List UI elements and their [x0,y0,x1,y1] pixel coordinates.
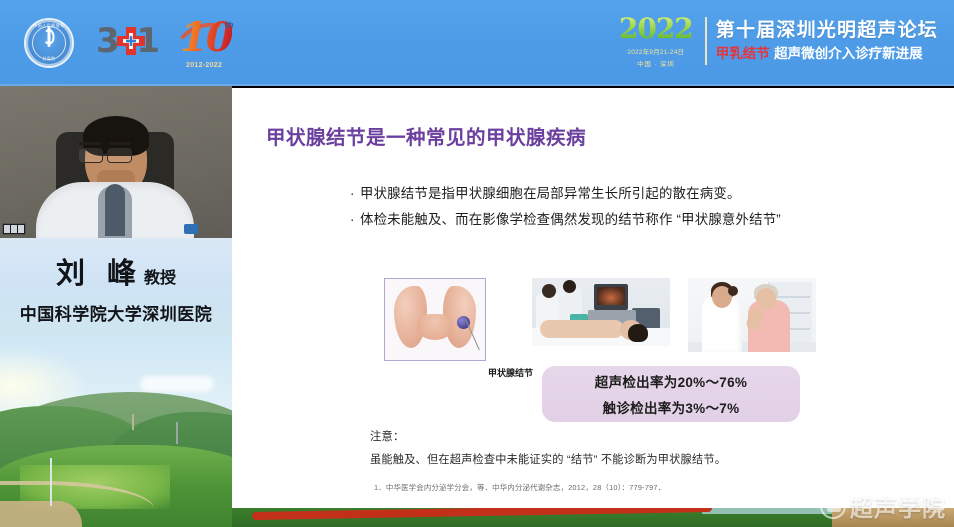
header-subtitle-white: 超声微创介入诊疗新进展 [774,46,923,62]
presenter-video-feed[interactable] [0,86,232,238]
slide-note: 注意： 虽能触及、但在超声检查中未能证实的 “结节” 不能诊断为甲状腺结节。 [370,428,726,467]
event-header-banner: 中国人民解放军 总医院 3 1 10 th 2012-2022 2022 202… [0,0,954,86]
video-thumbnail-overlay[interactable] [2,223,26,235]
header-year-block: 2022 2022年9月21-24日 中国 · 深圳 [619,15,703,68]
background-landscape-photo [0,336,232,527]
header-main-title: 第十届深圳光明超声论坛 [716,19,938,42]
hospital-emblem-top-text: 中国人民解放军 [26,23,72,29]
bullet-text: 体检未能触及、而在影像学检查偶然发现的结节称作 “甲状腺意外结节” [360,212,781,227]
eyeglasses-icon [78,148,103,163]
speaker-name: 刘 峰 [56,250,142,292]
bullet-dot-icon: · [350,181,360,207]
presenter-panel: 刘 峰 教授 中国科学院大学深圳医院 [0,86,232,527]
screen-root: 中国人民解放军 总医院 3 1 10 th 2012-2022 2022 202… [0,0,954,527]
ultrasound-exam-photo [532,278,670,346]
bullet-item: ·体检未能触及、而在影像学检查偶然发现的结节称作 “甲状腺意外结节” [350,207,940,233]
bullet-item: ·甲状腺结节是指甲状腺细胞在局部异常生长所引起的散在病变。 [350,181,940,207]
hospital-emblem-icon: 中国人民解放军 总医院 [24,18,74,68]
badge-301-icon: 3 1 [96,24,160,60]
header-year: 2022 [619,15,693,43]
header-title-group: 2022 2022年9月21-24日 中国 · 深圳 第十届深圳光明超声论坛 甲… [619,10,938,72]
presentation-slide: 甲状腺结节是一种常见的甲状腺疾病 ·甲状腺结节是指甲状腺细胞在局部异常生长所引起… [232,88,954,508]
bullet-text: 甲状腺结节是指甲状腺细胞在局部异常生长所引起的散在病变。 [360,186,741,201]
note-body: 虽能触及、但在超声检查中未能证实的 “结节” 不能诊断为甲状腺结节。 [370,451,726,467]
slide-reference: 1．中华医学会内分泌学分会，等．中华内分泌代谢杂志，2012，28（10）：77… [374,482,665,493]
header-place: 中国 · 深圳 [619,58,693,68]
anniversary-number: 10 [180,18,232,58]
header-subtitle-red: 甲乳结节 [716,46,770,62]
stat-line-palpation: 触诊检出率为3%～7% [603,397,740,417]
stat-line-ultrasound: 超声检出率为20%～76% [595,371,747,391]
thyroid-diagram: 甲状腺结节 [384,278,486,361]
thyroid-diagram-label: 甲状腺结节 [488,366,533,379]
detection-rate-callout: 超声检出率为20%～76% 触诊检出率为3%～7% [542,366,800,422]
header-divider [705,17,707,65]
anniversary-10th-icon: 10 th 2012-2022 [178,14,248,72]
thyroid-nodule-marker [457,316,470,329]
landscape-bottom-strip [232,508,954,527]
speaker-nameplate: 刘 峰 教授 中国科学院大学深圳医院 [0,238,232,336]
note-heading: 注意： [370,428,726,444]
slide-bullet-list: ·甲状腺结节是指甲状腺细胞在局部异常生长所引起的散在病变。 ·体检未能触及、而在… [350,181,940,233]
palpation-consult-photo [688,278,816,352]
header-date: 2022年9月21-24日 [619,46,693,56]
anniversary-suffix: th [225,20,234,30]
header-subtitle: 甲乳结节 超声微创介入诊疗新进展 [716,45,938,63]
slide-title: 甲状腺结节是一种常见的甲状腺疾病 [266,121,586,150]
hospital-emblem-bottom-text: 总医院 [26,56,72,62]
speaker-title: 教授 [144,264,176,288]
speaker-organization: 中国科学院大学深圳医院 [20,300,213,325]
anniversary-years: 2012-2022 [186,62,222,69]
bullet-dot-icon: · [350,207,360,233]
